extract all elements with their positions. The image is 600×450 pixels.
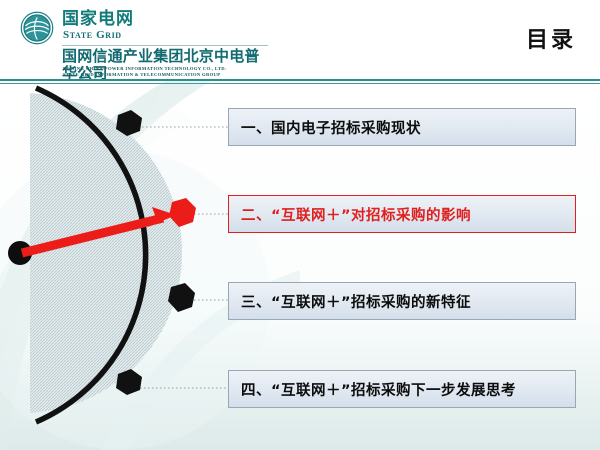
header-rule-upper — [0, 79, 600, 81]
state-grid-emblem-icon — [20, 11, 54, 45]
slide-header: 国家电网 State Grid 国网信通产业集团北京中电普华公司 BEIJING… — [0, 0, 600, 80]
brand-logo-block: 国家电网 State Grid 国网信通产业集团北京中电普华公司 BEIJING… — [18, 8, 268, 70]
agenda-item-1-label: 一、国内电子招标采购现状 — [229, 117, 421, 138]
agenda-item-4-label: 四、“互联网＋”招标采购下一步发展思考 — [229, 379, 516, 400]
agenda-item-3[interactable]: 三、“互联网＋”招标采购的新特征 — [228, 282, 576, 320]
agenda-item-4[interactable]: 四、“互联网＋”招标采购下一步发展思考 — [228, 370, 576, 408]
page-title: 目录 — [526, 22, 576, 54]
agenda-list: 一、国内电子招标采购现状 二、“互联网＋”对招标采购的影响 三、“互联网＋”招标… — [228, 84, 578, 450]
agenda-item-1[interactable]: 一、国内电子招标采购现状 — [228, 108, 576, 146]
company-name-en-line1: BEIJING CHINA-POWER INFORMATION TECHNOLO… — [63, 66, 226, 71]
brand-name-en: State Grid — [63, 29, 122, 42]
agenda-item-2[interactable]: 二、“互联网＋”对招标采购的影响 — [228, 195, 576, 233]
agenda-item-2-label: 二、“互联网＋”对招标采购的影响 — [229, 204, 471, 225]
slide-canvas: 国家电网 State Grid 国网信通产业集团北京中电普华公司 BEIJING… — [0, 0, 600, 450]
clock-arc-navigator — [0, 84, 232, 450]
company-name-en-line2: STATE GRID INFORMATION & TELECOMMUNICATI… — [63, 72, 220, 77]
brand-divider — [62, 45, 268, 46]
agenda-item-3-label: 三、“互联网＋”招标采购的新特征 — [229, 291, 471, 312]
brand-name-cn: 国家电网 — [62, 10, 134, 29]
